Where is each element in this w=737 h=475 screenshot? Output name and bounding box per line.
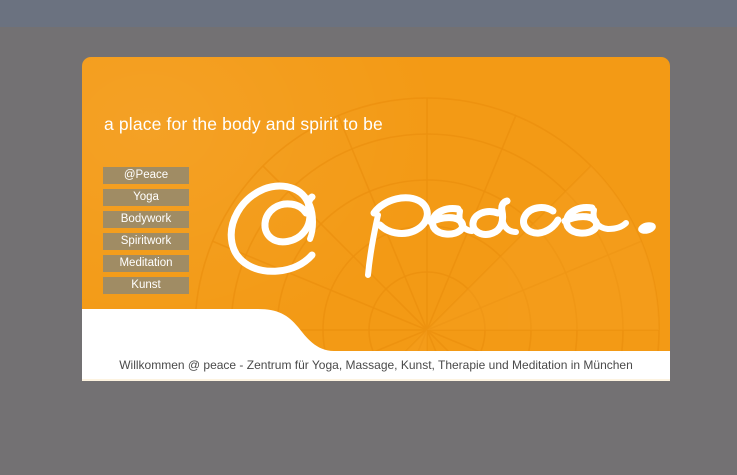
nav-item-bodywork[interactable]: Bodywork: [103, 211, 189, 228]
footer-bar: Willkommen @ peace - Zentrum für Yoga, M…: [82, 351, 670, 381]
hero-panel: a place for the body and spirit to be @P…: [82, 57, 670, 351]
main-navigation: @Peace Yoga Bodywork Spiritwork Meditati…: [103, 167, 189, 299]
nav-item-at-peace[interactable]: @Peace: [103, 167, 189, 184]
nav-item-yoga[interactable]: Yoga: [103, 189, 189, 206]
footer-welcome-text: Willkommen @ peace - Zentrum für Yoga, M…: [82, 351, 670, 379]
page-frame: a place for the body and spirit to be @P…: [82, 57, 670, 381]
desktop-top-band: [0, 0, 737, 27]
nav-item-meditation[interactable]: Meditation: [103, 255, 189, 272]
nav-item-spiritwork[interactable]: Spiritwork: [103, 233, 189, 250]
logo-period-icon: [637, 220, 657, 235]
page-tagline: a place for the body and spirit to be: [104, 114, 383, 135]
brand-logo-icon: [222, 175, 662, 280]
nav-item-kunst[interactable]: Kunst: [103, 277, 189, 294]
white-curve-sweep-icon: [82, 291, 670, 351]
